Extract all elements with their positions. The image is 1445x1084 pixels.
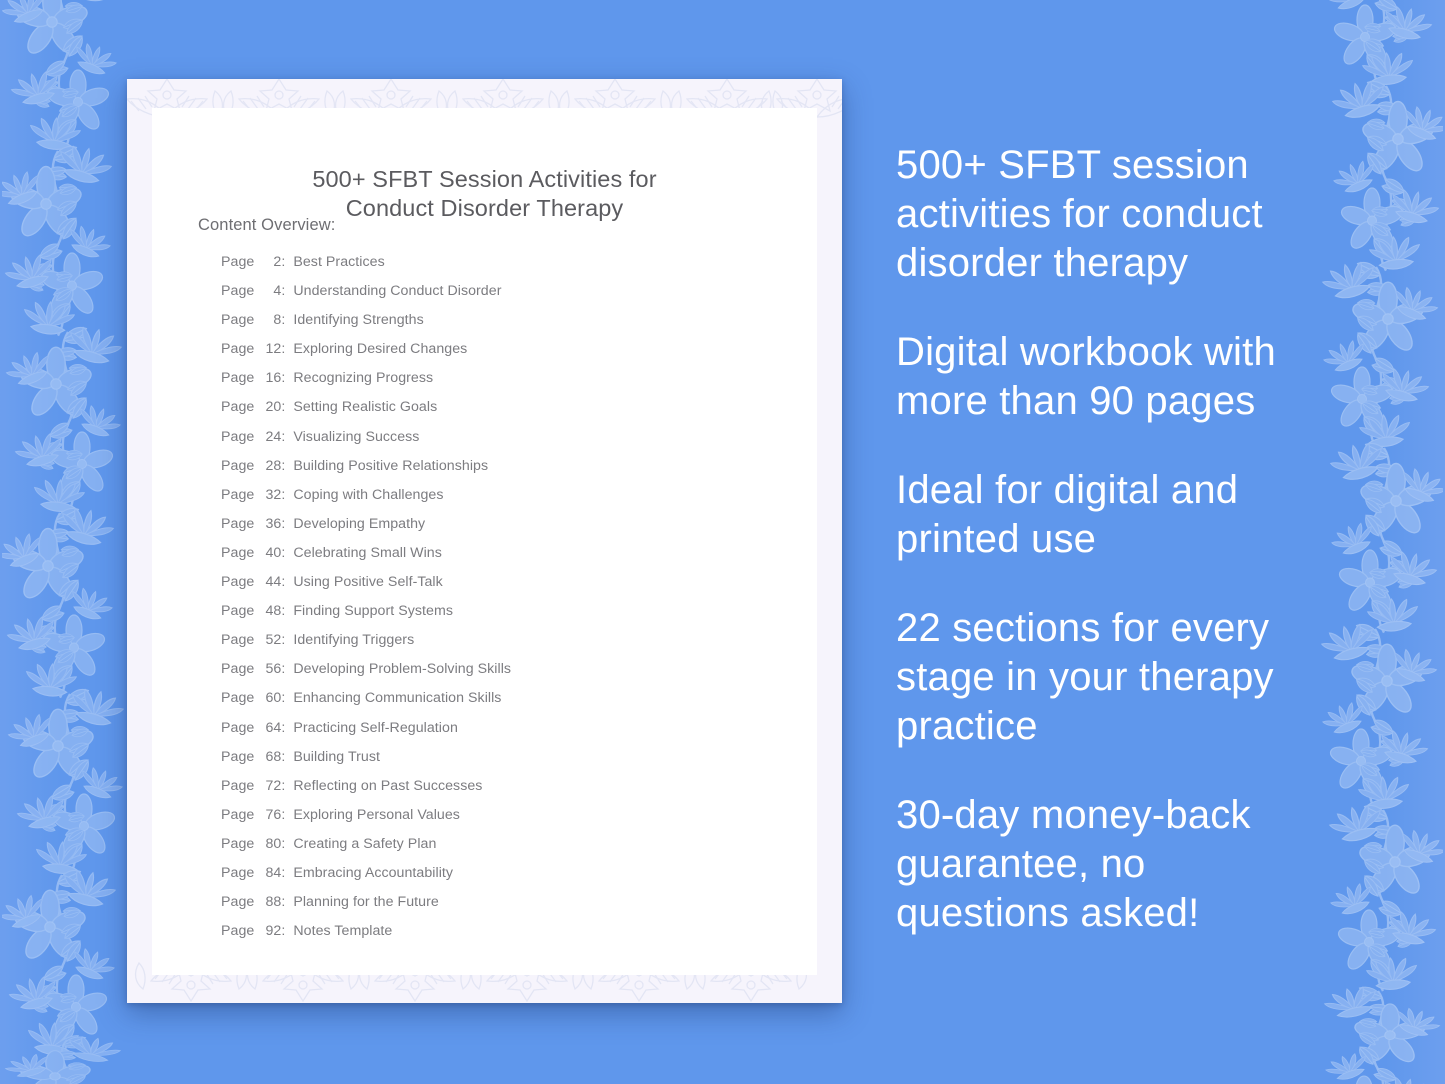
marketing-bullet: Digital workbook with more than 90 pages (896, 328, 1316, 426)
marketing-bullet: 30-day money-back guarantee, no question… (896, 791, 1316, 938)
toc-row: Page56:Developing Problem-Solving Skills (221, 661, 801, 690)
toc-page-number: 64 (259, 720, 281, 736)
toc-section-title: Enhancing Communication Skills (293, 690, 501, 706)
toc-page-word: Page (221, 894, 254, 910)
toc-section-title: Developing Problem-Solving Skills (293, 661, 511, 677)
toc-page-number: 2 (259, 254, 281, 270)
toc-row: Page40:Celebrating Small Wins (221, 545, 801, 574)
toc-separator: : (281, 399, 285, 415)
toc-row: Page48:Finding Support Systems (221, 603, 801, 632)
toc-row: Page80:Creating a Safety Plan (221, 836, 801, 865)
toc-section-title: Identifying Triggers (293, 632, 414, 648)
toc-page-number: 36 (259, 516, 281, 532)
toc-separator: : (281, 254, 285, 270)
toc-page-number: 52 (259, 632, 281, 648)
toc-page-number: 20 (259, 399, 281, 415)
content-overview-label: Content Overview: (198, 216, 335, 235)
toc-separator: : (281, 632, 285, 648)
toc-separator: : (281, 574, 285, 590)
toc-separator: : (281, 370, 285, 386)
toc-page-number: 60 (259, 690, 281, 706)
toc-page-number: 56 (259, 661, 281, 677)
toc-page-word: Page (221, 370, 254, 386)
page-title: 500+ SFBT Session Activities for Conduct… (152, 165, 817, 223)
toc-row: Page36:Developing Empathy (221, 516, 801, 545)
background-edge-shading-left (0, 0, 60, 1084)
toc-page-number: 28 (259, 458, 281, 474)
toc-page-number: 84 (259, 865, 281, 881)
toc-page-number: 92 (259, 923, 281, 939)
toc-page-word: Page (221, 632, 254, 648)
toc-page-word: Page (221, 690, 254, 706)
toc-page-number: 40 (259, 545, 281, 561)
toc-section-title: Practicing Self-Regulation (293, 720, 458, 736)
toc-row: Page64:Practicing Self-Regulation (221, 720, 801, 749)
toc-separator: : (281, 690, 285, 706)
toc-separator: : (281, 458, 285, 474)
toc-row: Page60:Enhancing Communication Skills (221, 690, 801, 719)
toc-separator: : (281, 429, 285, 445)
toc-section-title: Exploring Desired Changes (293, 341, 467, 357)
toc-section-title: Creating a Safety Plan (293, 836, 436, 852)
toc-row: Page32:Coping with Challenges (221, 487, 801, 516)
toc-row: Page28:Building Positive Relationships (221, 458, 801, 487)
toc-separator: : (281, 516, 285, 532)
toc-page-word: Page (221, 516, 254, 532)
toc-page-word: Page (221, 399, 254, 415)
toc-separator: : (281, 341, 285, 357)
toc-row: Page52:Identifying Triggers (221, 632, 801, 661)
toc-row: Page72:Reflecting on Past Successes (221, 778, 801, 807)
toc-separator: : (281, 312, 285, 328)
toc-section-title: Celebrating Small Wins (293, 545, 442, 561)
toc-separator: : (281, 865, 285, 881)
document-page: 500+ SFBT Session Activities for Conduct… (152, 108, 817, 975)
toc-separator: : (281, 749, 285, 765)
toc-section-title: Visualizing Success (293, 429, 419, 445)
marketing-bullet: Ideal for digital and printed use (896, 466, 1316, 564)
toc-section-title: Building Trust (293, 749, 380, 765)
toc-page-number: 48 (259, 603, 281, 619)
toc-page-number: 44 (259, 574, 281, 590)
toc-separator: : (281, 283, 285, 299)
toc-page-word: Page (221, 429, 254, 445)
toc-page-number: 68 (259, 749, 281, 765)
floral-vine-border-right-icon (1313, 0, 1443, 1084)
toc-separator: : (281, 778, 285, 794)
toc-separator: : (281, 603, 285, 619)
toc-section-title: Understanding Conduct Disorder (293, 283, 501, 299)
toc-page-word: Page (221, 923, 254, 939)
toc-row: Page76:Exploring Personal Values (221, 807, 801, 836)
toc-page-word: Page (221, 545, 254, 561)
promo-graphic: 500+ SFBT Session Activities for Conduct… (0, 0, 1445, 1084)
toc-section-title: Best Practices (293, 254, 384, 270)
table-of-contents: Page2:Best PracticesPage4:Understanding … (221, 254, 801, 952)
toc-separator: : (281, 661, 285, 677)
toc-separator: : (281, 545, 285, 561)
toc-page-word: Page (221, 341, 254, 357)
toc-page-number: 4 (259, 283, 281, 299)
background-edge-shading-right (1385, 0, 1445, 1084)
toc-section-title: Finding Support Systems (293, 603, 453, 619)
toc-section-title: Exploring Personal Values (293, 807, 460, 823)
toc-row: Page12:Exploring Desired Changes (221, 341, 801, 370)
toc-row: Page8:Identifying Strengths (221, 312, 801, 341)
toc-page-word: Page (221, 749, 254, 765)
toc-section-title: Recognizing Progress (293, 370, 433, 386)
toc-row: Page24:Visualizing Success (221, 429, 801, 458)
marketing-copy-list: 500+ SFBT session activities for conduct… (896, 141, 1316, 938)
toc-section-title: Identifying Strengths (293, 312, 423, 328)
toc-row: Page44:Using Positive Self-Talk (221, 574, 801, 603)
toc-section-title: Building Positive Relationships (293, 458, 488, 474)
toc-row: Page84:Embracing Accountability (221, 865, 801, 894)
toc-separator: : (281, 836, 285, 852)
toc-section-title: Using Positive Self-Talk (293, 574, 442, 590)
toc-section-title: Planning for the Future (293, 894, 438, 910)
toc-row: Page88:Planning for the Future (221, 894, 801, 923)
toc-page-word: Page (221, 720, 254, 736)
toc-page-word: Page (221, 807, 254, 823)
toc-page-number: 16 (259, 370, 281, 386)
toc-separator: : (281, 894, 285, 910)
toc-row: Page68:Building Trust (221, 749, 801, 778)
toc-page-word: Page (221, 254, 254, 270)
toc-page-word: Page (221, 661, 254, 677)
toc-row: Page92:Notes Template (221, 923, 801, 952)
toc-page-number: 32 (259, 487, 281, 503)
toc-section-title: Developing Empathy (293, 516, 425, 532)
toc-row: Page16:Recognizing Progress (221, 370, 801, 399)
toc-page-number: 80 (259, 836, 281, 852)
toc-section-title: Notes Template (293, 923, 392, 939)
toc-section-title: Coping with Challenges (293, 487, 443, 503)
toc-page-word: Page (221, 865, 254, 881)
toc-separator: : (281, 807, 285, 823)
toc-separator: : (281, 720, 285, 736)
toc-row: Page4:Understanding Conduct Disorder (221, 283, 801, 312)
toc-page-number: 88 (259, 894, 281, 910)
toc-row: Page2:Best Practices (221, 254, 801, 283)
toc-page-word: Page (221, 458, 254, 474)
toc-page-number: 24 (259, 429, 281, 445)
toc-separator: : (281, 487, 285, 503)
toc-page-word: Page (221, 778, 254, 794)
toc-section-title: Embracing Accountability (293, 865, 453, 881)
toc-page-word: Page (221, 603, 254, 619)
toc-page-number: 76 (259, 807, 281, 823)
toc-page-word: Page (221, 312, 254, 328)
toc-section-title: Reflecting on Past Successes (293, 778, 482, 794)
toc-page-word: Page (221, 574, 254, 590)
toc-page-number: 12 (259, 341, 281, 357)
toc-page-number: 72 (259, 778, 281, 794)
toc-separator: : (281, 923, 285, 939)
toc-row: Page20:Setting Realistic Goals (221, 399, 801, 428)
floral-vine-border-left-icon (2, 0, 132, 1084)
toc-page-word: Page (221, 283, 254, 299)
document-preview-card: 500+ SFBT Session Activities for Conduct… (127, 79, 842, 1003)
toc-page-word: Page (221, 836, 254, 852)
toc-page-number: 8 (259, 312, 281, 328)
marketing-bullet: 22 sections for every stage in your ther… (896, 604, 1316, 751)
marketing-bullet: 500+ SFBT session activities for conduct… (896, 141, 1316, 288)
toc-section-title: Setting Realistic Goals (293, 399, 437, 415)
toc-page-word: Page (221, 487, 254, 503)
